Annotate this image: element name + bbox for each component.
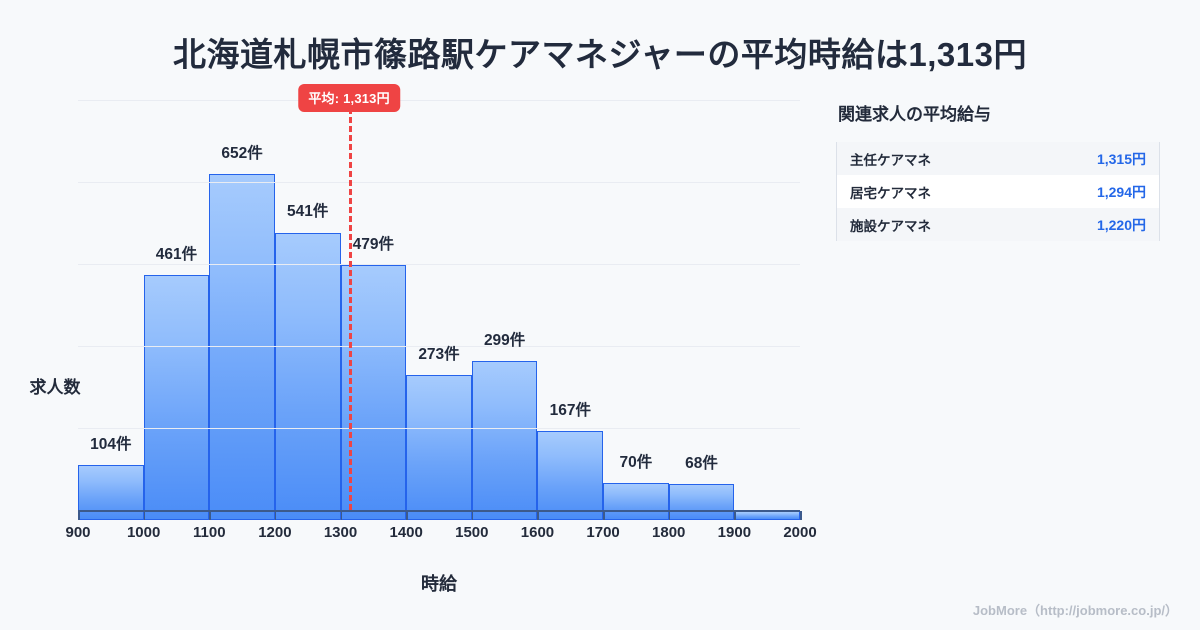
bar-value-label: 167件 xyxy=(550,398,591,420)
histogram-bar xyxy=(603,483,669,520)
histogram-bar xyxy=(734,511,800,520)
histogram-bar xyxy=(78,465,144,520)
bar-value-label: 68件 xyxy=(685,451,718,473)
x-tick-mark xyxy=(603,511,605,520)
infographic-page: 北海道札幌市篠路駅ケアマネジャーの平均時給は1,313円 求人数 9001000… xyxy=(0,0,1200,630)
histogram-bar xyxy=(472,361,538,520)
x-tick-mark xyxy=(472,511,474,520)
bar-value-label: 461件 xyxy=(156,242,197,264)
x-tick-label: 1900 xyxy=(718,524,751,541)
histogram-bar xyxy=(275,233,341,521)
histogram-chart: 求人数 900100011001200130014001500160017001… xyxy=(0,90,820,560)
x-tick-label: 900 xyxy=(65,524,90,541)
salary-row-name: 施設ケアマネ xyxy=(850,215,931,235)
salary-table: 主任ケアマネ1,315円居宅ケアマネ1,294円施設ケアマネ1,220円 xyxy=(836,142,1160,241)
average-badge: 平均: 1,313円 xyxy=(298,84,399,112)
bar-value-label: 652件 xyxy=(221,141,262,163)
bar-value-label: 479件 xyxy=(353,232,394,254)
table-row: 施設ケアマネ1,220円 xyxy=(837,208,1159,241)
x-tick-mark xyxy=(537,511,539,520)
x-tick-label: 1700 xyxy=(586,524,619,541)
x-tick-mark xyxy=(144,511,146,520)
gridline xyxy=(78,100,800,101)
x-tick-mark xyxy=(734,511,736,520)
related-salary-panel: 関連求人の平均給与 主任ケアマネ1,315円居宅ケアマネ1,294円施設ケアマネ… xyxy=(836,100,1166,241)
x-tick-label: 1400 xyxy=(389,524,422,541)
x-tick-mark xyxy=(209,511,211,520)
salary-row-name: 主任ケアマネ xyxy=(850,149,931,169)
bar-value-label: 104件 xyxy=(90,432,131,454)
histogram-bar xyxy=(144,275,210,520)
table-row: 主任ケアマネ1,315円 xyxy=(837,142,1159,175)
x-tick-mark xyxy=(275,511,277,520)
panel-heading: 関連求人の平均給与 xyxy=(838,100,1166,125)
page-title: 北海道札幌市篠路駅ケアマネジャーの平均時給は1,313円 xyxy=(0,28,1200,76)
average-dashed-line xyxy=(349,108,352,510)
x-tick-label: 1200 xyxy=(258,524,291,541)
x-axis-label: 時給 xyxy=(78,570,800,596)
salary-row-value: 1,294円 xyxy=(1097,182,1146,202)
x-tick-label: 1800 xyxy=(652,524,685,541)
x-tick-mark xyxy=(406,511,408,520)
histogram-bar xyxy=(537,431,603,520)
watermark: JobMore（http://jobmore.co.jp/） xyxy=(973,600,1178,619)
histogram-bar xyxy=(406,375,472,520)
x-tick-mark xyxy=(669,511,671,520)
x-tick-label: 1600 xyxy=(521,524,554,541)
gridline xyxy=(78,264,800,265)
x-tick-label: 1100 xyxy=(193,524,226,541)
x-tick-mark xyxy=(800,511,802,520)
bar-value-label: 70件 xyxy=(620,450,653,472)
x-tick-label: 1500 xyxy=(455,524,488,541)
bar-value-label: 541件 xyxy=(287,199,328,221)
bar-value-label: 273件 xyxy=(418,342,459,364)
gridline xyxy=(78,182,800,183)
salary-row-value: 1,220円 xyxy=(1097,215,1146,235)
histogram-bar xyxy=(669,484,735,520)
x-tick-label: 2000 xyxy=(783,524,816,541)
x-tick-label: 1300 xyxy=(324,524,357,541)
bar-value-label: 299件 xyxy=(484,328,525,350)
x-tick-mark xyxy=(341,511,343,520)
x-tick-mark xyxy=(78,511,80,520)
salary-row-value: 1,315円 xyxy=(1097,149,1146,169)
gridline xyxy=(78,428,800,429)
salary-row-name: 居宅ケアマネ xyxy=(850,182,931,202)
x-tick-label: 1000 xyxy=(127,524,160,541)
table-row: 居宅ケアマネ1,294円 xyxy=(837,175,1159,208)
axis-baseline xyxy=(78,510,800,512)
